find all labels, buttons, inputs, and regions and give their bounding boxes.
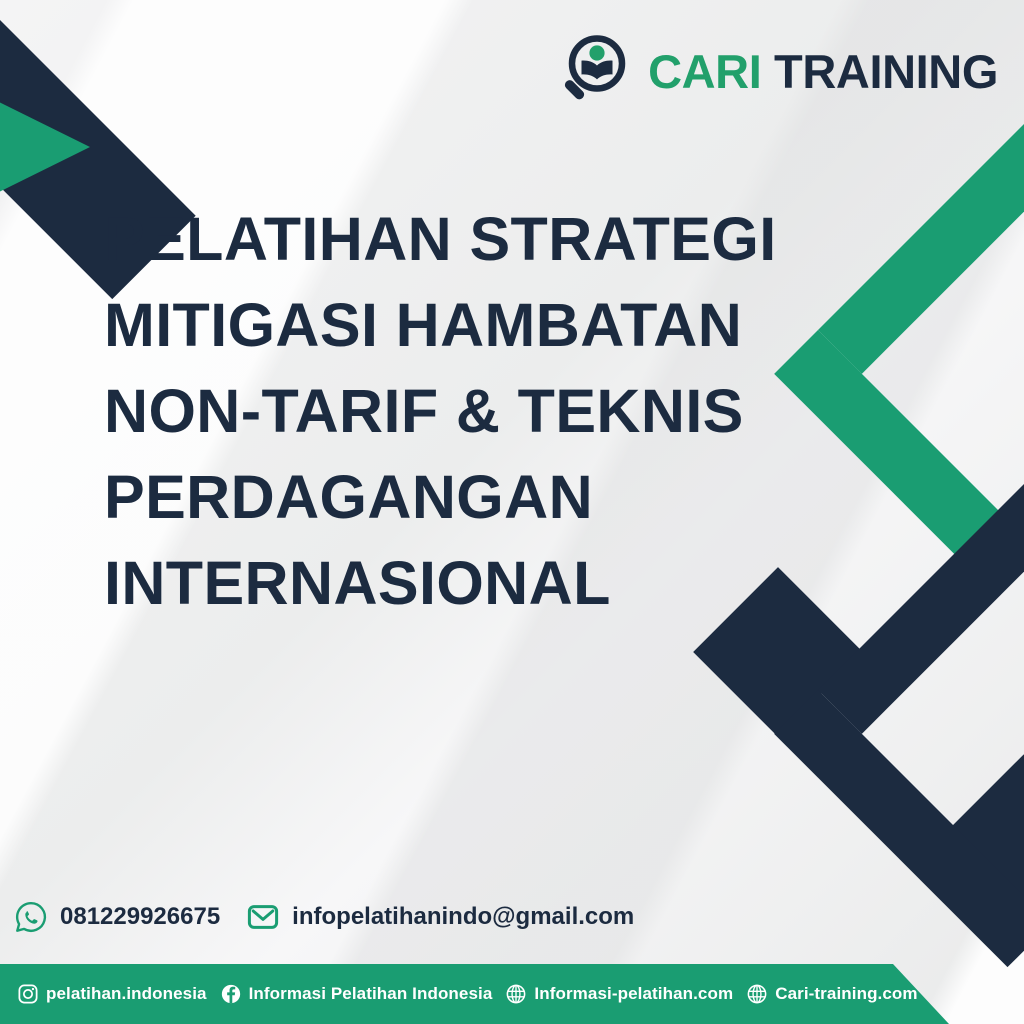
facebook-icon — [220, 983, 242, 1005]
footer-item-facebook[interactable]: Informasi Pelatihan Indonesia — [220, 983, 493, 1005]
title-line-1: PELATIHAN STRATEGI — [104, 196, 824, 282]
brand-logo[interactable]: CARI TRAINING — [554, 33, 998, 109]
whatsapp-icon — [14, 900, 48, 934]
title-line-2: MITIGASI HAMBATAN — [104, 282, 824, 368]
contact-email-text: infopelatihanindo@gmail.com — [292, 903, 634, 931]
brand-name-training: TRAINING — [774, 45, 998, 98]
footer-instagram-text: pelatihan.indonesia — [46, 984, 207, 1004]
brand-name: CARI TRAINING — [648, 48, 998, 95]
footer-item-website-informasi[interactable]: Informasi-pelatihan.com — [505, 983, 733, 1005]
poster-canvas: CARI TRAINING PELATIHAN STRATEGI MITIGAS… — [0, 0, 1024, 1024]
email-icon — [246, 900, 280, 934]
footer-website2-text: Cari-training.com — [775, 984, 917, 1004]
page-title: PELATIHAN STRATEGI MITIGASI HAMBATAN NON… — [104, 196, 824, 626]
title-line-4: PERDAGANGAN — [104, 454, 824, 540]
footer-social-bar: pelatihan.indonesia Informasi Pelatihan … — [0, 964, 1024, 1024]
contact-phone-text: 081229926675 — [60, 903, 220, 931]
globe-icon — [746, 983, 768, 1005]
footer-item-instagram[interactable]: pelatihan.indonesia — [17, 983, 207, 1005]
footer-website1-text: Informasi-pelatihan.com — [534, 984, 733, 1004]
green-arrow-left — [0, 58, 90, 236]
title-line-3: NON-TARIF & TEKNIS — [104, 368, 824, 454]
title-line-5: INTERNASIONAL — [104, 540, 824, 626]
globe-icon — [505, 983, 527, 1005]
contact-whatsapp[interactable]: 081229926675 — [14, 900, 220, 934]
footer-item-website-caritraining[interactable]: Cari-training.com — [746, 983, 917, 1005]
footer-facebook-text: Informasi Pelatihan Indonesia — [249, 984, 493, 1004]
contact-row: 081229926675 infopelatihanindo@gmail.com — [14, 900, 634, 934]
brand-name-cari: CARI — [648, 45, 761, 98]
magnifier-book-icon — [554, 33, 630, 109]
instagram-icon — [17, 983, 39, 1005]
contact-email[interactable]: infopelatihanindo@gmail.com — [246, 900, 634, 934]
